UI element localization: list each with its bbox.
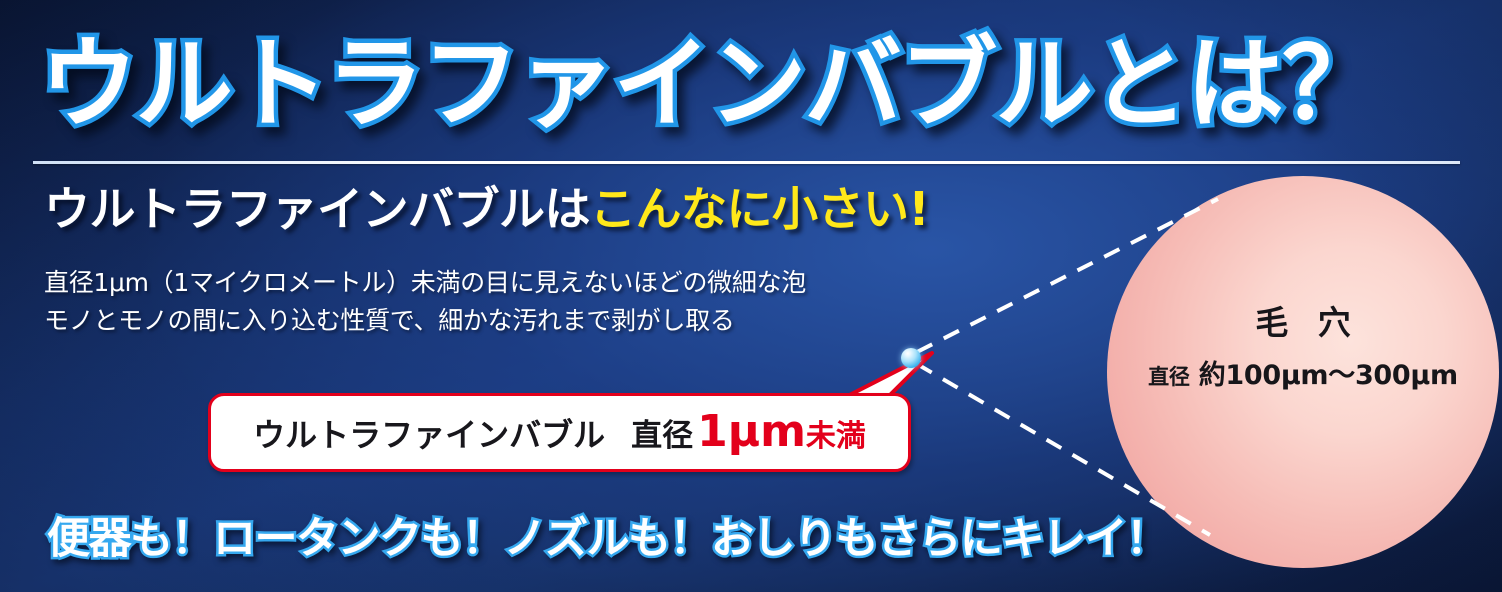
callout-measure-label: 直径 <box>631 410 693 455</box>
body-copy: 直径1μm（1マイクロメートル）未満の目に見えないほどの微細な泡 モノとモノの間… <box>44 264 806 340</box>
subtitle-white-part: ウルトラファインバブルは <box>44 182 590 236</box>
pore-diameter-label: 直径 <box>1148 365 1189 389</box>
subtitle-yellow-part: こんなに小さい! <box>590 182 929 236</box>
title-block: ウルトラファインバブルとは？ <box>40 26 1460 150</box>
header-divider <box>33 161 1460 164</box>
callout-box: ウルトラファインバブル 直径 1μm 未満 <box>208 393 911 472</box>
pore-diameter: 直径 約100μm〜300μm <box>1148 353 1458 392</box>
pore-title: 毛 穴 <box>1255 296 1360 344</box>
callout-bubble: ウルトラファインバブル 直径 1μm 未満 <box>208 393 911 472</box>
callout-text: ウルトラファインバブル 直径 1μm 未満 <box>253 410 866 456</box>
bubble-dot-icon <box>901 348 921 368</box>
callout-measure-suffix: 未満 <box>806 411 866 455</box>
body-copy-line-2: モノとモノの間に入り込む性質で、細かな汚れまで剥がし取る <box>44 302 806 340</box>
pore-diameter-value: 約100μm〜300μm <box>1199 360 1458 391</box>
body-copy-line-1: 直径1μm（1マイクロメートル）未満の目に見えないほどの微細な泡 <box>44 264 806 302</box>
subtitle: ウルトラファインバブルはこんなに小さい! <box>44 182 929 236</box>
ultrafine-bubble-poster: 毛 穴 直径 約100μm〜300μm ウルトラファインバブルとは？ ウルトラフ… <box>0 0 1502 592</box>
callout-measure-value: 1μm <box>697 410 806 454</box>
page-title: ウルトラファインバブルとは？ <box>40 26 1439 144</box>
callout-label: ウルトラファインバブル <box>253 410 605 456</box>
bottom-strap: 便器も！ロータンクも！ノズルも！おしりもさらにキレイ！ <box>47 504 1168 566</box>
